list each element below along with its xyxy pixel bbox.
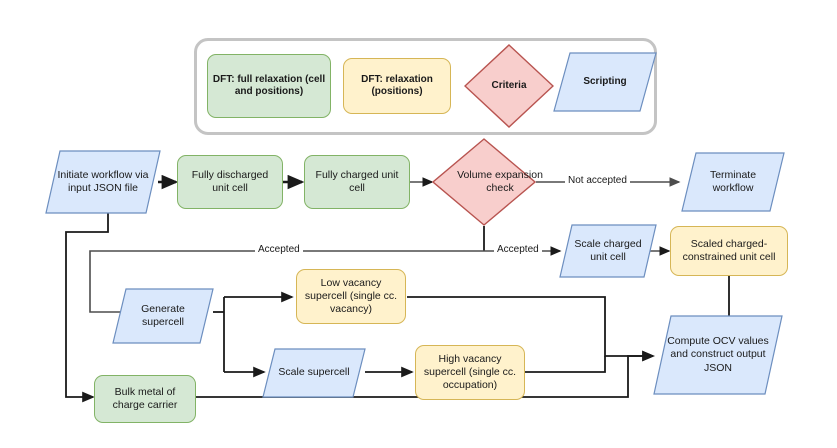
node-compute-ocv-values[interactable]: Compute OCV values and construct output … — [653, 315, 783, 395]
node-label: Generate supercell — [120, 303, 206, 329]
edge-highvac-computeocv — [524, 356, 605, 372]
node-label: Initiate workflow via input JSON file — [53, 169, 153, 195]
node-label: Scale charged unit cell — [566, 238, 650, 264]
node-scaled-charged-constrained-unit-cell[interactable]: Scaled charged-constrained unit cell — [670, 226, 788, 276]
node-volume-expansion-check[interactable]: Volume expansion check — [432, 138, 536, 226]
node-label: Fully discharged unit cell — [182, 169, 278, 195]
node-label: Fully charged unit cell — [309, 169, 405, 195]
node-label: Scaled charged-constrained unit cell — [675, 238, 783, 264]
edge-label-not-accepted: Not accepted — [565, 176, 630, 186]
node-label: Volume expansion check — [448, 169, 552, 195]
flowchart-canvas: DFT: full relaxation (cell and positions… — [0, 0, 837, 448]
node-label: Bulk metal of charge carrier — [99, 386, 191, 412]
node-bulk-metal-of-charge-carrier[interactable]: Bulk metal of charge carrier — [94, 375, 196, 423]
node-fully-charged-unit-cell[interactable]: Fully charged unit cell — [304, 155, 410, 209]
edge-label-accepted-right: Accepted — [494, 245, 542, 255]
node-generate-supercell[interactable]: Generate supercell — [112, 288, 214, 344]
node-low-vacancy-supercell[interactable]: Low vacancy supercell (single cc. vacanc… — [296, 269, 406, 324]
node-initiate-workflow[interactable]: Initiate workflow via input JSON file — [45, 150, 161, 214]
legend-item-scripting: Scripting — [553, 52, 657, 112]
node-label: Low vacancy supercell (single cc. vacanc… — [301, 277, 401, 316]
node-label: Compute OCV values and construct output … — [662, 335, 774, 374]
node-scale-charged-unit-cell[interactable]: Scale charged unit cell — [559, 224, 657, 278]
legend-label: Scripting — [583, 76, 626, 89]
node-terminate-workflow[interactable]: Terminate workflow — [681, 152, 785, 212]
edge-initiate-bulkmetal — [66, 212, 108, 397]
node-label: Scale supercell — [278, 366, 349, 379]
node-label: High vacancy supercell (single cc. occup… — [420, 353, 520, 392]
legend-item-dft-relaxation: DFT: relaxation (positions) — [343, 58, 451, 114]
legend-item-dft-full-relaxation: DFT: full relaxation (cell and positions… — [207, 54, 331, 118]
legend-label: Criteria — [491, 80, 526, 93]
node-fully-discharged-unit-cell[interactable]: Fully discharged unit cell — [177, 155, 283, 209]
edge-label-accepted-left: Accepted — [255, 245, 303, 255]
node-scale-supercell[interactable]: Scale supercell — [262, 348, 366, 398]
legend-item-criteria: Criteria — [464, 44, 554, 128]
legend-label: DFT: full relaxation (cell and positions… — [212, 74, 326, 99]
node-high-vacancy-supercell[interactable]: High vacancy supercell (single cc. occup… — [415, 345, 525, 400]
legend-label: DFT: relaxation (positions) — [348, 74, 446, 99]
node-label: Terminate workflow — [691, 169, 775, 195]
